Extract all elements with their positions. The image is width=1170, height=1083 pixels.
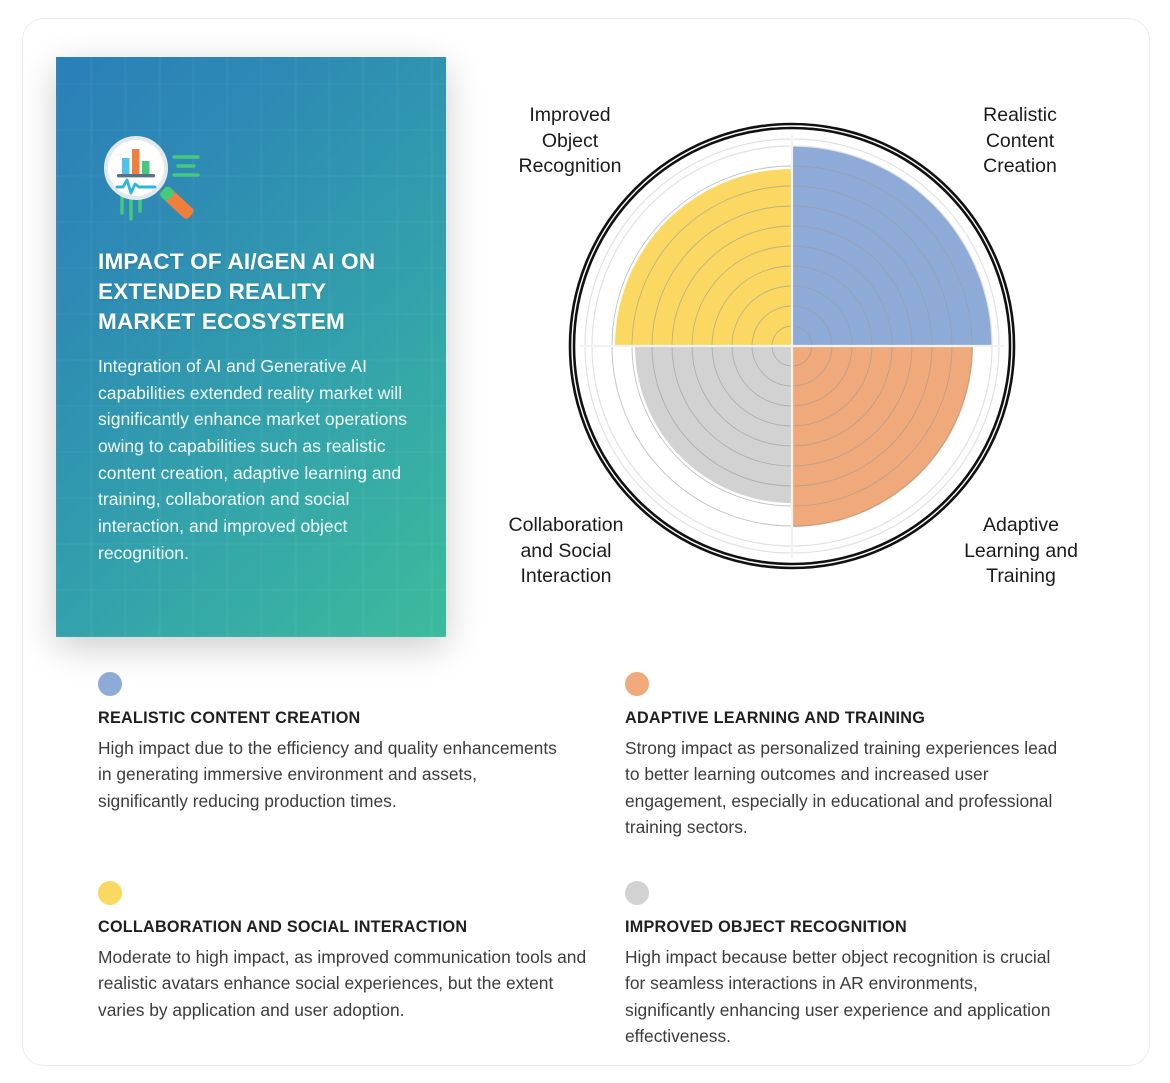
polar-area-chart: Improved Object Recognition Realistic Co… <box>460 76 1120 606</box>
legend-item-description: Strong impact as personalized training e… <box>625 735 1070 841</box>
legend-item-title: ADAPTIVE LEARNING AND TRAINING <box>625 709 1070 728</box>
legend-item-title: REALISTIC CONTENT CREATION <box>98 709 597 728</box>
hero-card: IMPACT OF AI/GEN AI ON EXTENDED REALITY … <box>56 57 446 637</box>
legend-item: ADAPTIVE LEARNING AND TRAINING Strong im… <box>625 672 1098 841</box>
hero-title: IMPACT OF AI/GEN AI ON EXTENDED REALITY … <box>98 247 412 337</box>
axis-label-improved-object-recognition: Improved Object Recognition <box>480 103 660 180</box>
legend-item-title: COLLABORATION AND SOCIAL INTERACTION <box>98 918 597 937</box>
axis-label-realistic-content-creation: Realistic Content Creation <box>930 103 1110 180</box>
legend-item-description: Moderate to high impact, as improved com… <box>98 944 597 1023</box>
legend-item: IMPROVED OBJECT RECOGNITION High impact … <box>625 881 1098 1050</box>
hero-description: Integration of AI and Generative AI capa… <box>98 353 412 567</box>
legend-item: COLLABORATION AND SOCIAL INTERACTION Mod… <box>98 881 625 1050</box>
legend-color-dot <box>625 672 649 696</box>
legend-item: REALISTIC CONTENT CREATION High impact d… <box>98 672 625 841</box>
axis-label-collaboration-and-social-interaction: Collaboration and Social Interaction <box>468 513 664 590</box>
legend-item-title: IMPROVED OBJECT RECOGNITION <box>625 918 1070 937</box>
legend-color-dot <box>98 881 122 905</box>
axis-label-adaptive-learning-and-training: Adaptive Learning and Training <box>926 513 1116 590</box>
legend: REALISTIC CONTENT CREATION High impact d… <box>98 672 1098 1050</box>
magnifier-bar-chart-icon <box>98 135 218 225</box>
legend-color-dot <box>625 881 649 905</box>
legend-item-description: High impact because better object recogn… <box>625 944 1070 1050</box>
legend-color-dot <box>98 672 122 696</box>
infographic-page: IMPACT OF AI/GEN AI ON EXTENDED REALITY … <box>0 0 1170 1083</box>
legend-item-description: High impact due to the efficiency and qu… <box>98 735 568 814</box>
